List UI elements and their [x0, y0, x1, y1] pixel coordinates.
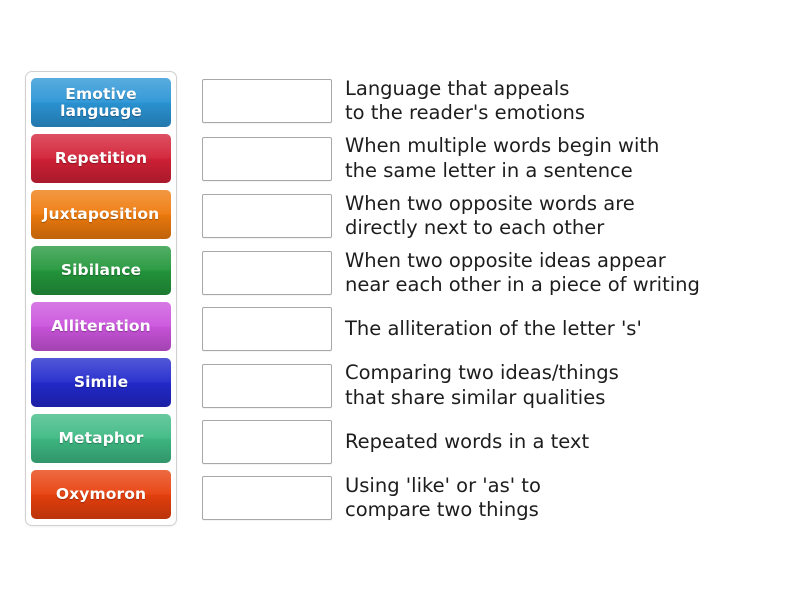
tile-label: Simile	[74, 374, 128, 391]
tile-repetition[interactable]: Repetition	[31, 134, 171, 183]
tile-label: Juxtaposition	[43, 206, 160, 223]
tile-label: Repetition	[55, 150, 147, 167]
drop-box[interactable]	[202, 251, 332, 295]
answer-row: When multiple words begin with the same …	[202, 134, 782, 182]
answer-row: Comparing two ideas/things that share si…	[202, 361, 782, 409]
match-up-activity: Emotive language Repetition Juxtapositio…	[0, 0, 800, 600]
answer-row: Using 'like' or 'as' to compare two thin…	[202, 474, 782, 522]
drop-box[interactable]	[202, 307, 332, 351]
tile-metaphor[interactable]: Metaphor	[31, 414, 171, 463]
tile-label: Oxymoron	[56, 486, 146, 503]
answer-row: When two opposite words are directly nex…	[202, 192, 782, 240]
definition-text: Comparing two ideas/things that share si…	[345, 361, 619, 409]
drop-box[interactable]	[202, 420, 332, 464]
drop-box[interactable]	[202, 194, 332, 238]
answer-row: Language that appeals to the reader's em…	[202, 77, 782, 125]
tile-sibilance[interactable]: Sibilance	[31, 246, 171, 295]
drop-box[interactable]	[202, 364, 332, 408]
drop-box[interactable]	[202, 137, 332, 181]
tile-emotive-language[interactable]: Emotive language	[31, 78, 171, 127]
tile-juxtaposition[interactable]: Juxtaposition	[31, 190, 171, 239]
definition-text: When two opposite ideas appear near each…	[345, 249, 700, 297]
tile-simile[interactable]: Simile	[31, 358, 171, 407]
definition-text: The alliteration of the letter 's'	[345, 317, 642, 341]
tile-alliteration[interactable]: Alliteration	[31, 302, 171, 351]
tile-label: Sibilance	[61, 262, 141, 279]
drop-box[interactable]	[202, 476, 332, 520]
answer-row: Repeated words in a text	[202, 419, 782, 465]
tile-label: Metaphor	[58, 430, 143, 447]
draggable-tiles-panel: Emotive language Repetition Juxtapositio…	[25, 71, 177, 526]
definition-text: When two opposite words are directly nex…	[345, 192, 635, 240]
answer-row: When two opposite ideas appear near each…	[202, 249, 782, 297]
answers-panel: Language that appeals to the reader's em…	[202, 77, 782, 522]
definition-text: When multiple words begin with the same …	[345, 134, 659, 182]
definition-text: Repeated words in a text	[345, 430, 589, 454]
definition-text: Using 'like' or 'as' to compare two thin…	[345, 474, 541, 522]
tile-label: Emotive language	[35, 86, 167, 119]
drop-box[interactable]	[202, 79, 332, 123]
tile-oxymoron[interactable]: Oxymoron	[31, 470, 171, 519]
tile-label: Alliteration	[51, 318, 151, 335]
definition-text: Language that appeals to the reader's em…	[345, 77, 585, 125]
answer-row: The alliteration of the letter 's'	[202, 306, 782, 352]
